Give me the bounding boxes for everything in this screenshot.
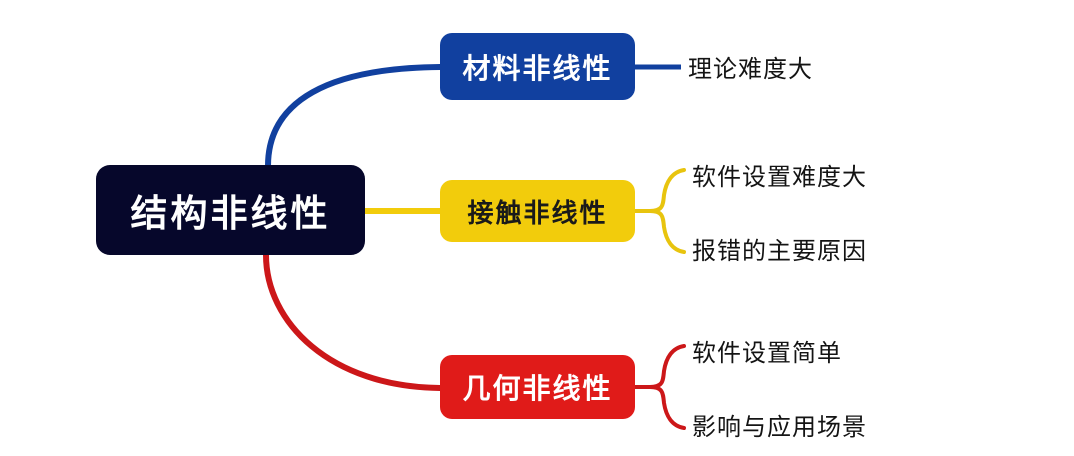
leaf-material-theory-difficulty: 理论难度大	[688, 49, 813, 84]
connector-root-to-material	[268, 67, 440, 166]
connector-root-to-geometric	[266, 255, 440, 388]
leaf-contact-main-error-cause: 报错的主要原因	[692, 231, 867, 266]
branch-node-contact-nonlinearity[interactable]: 接触非线性	[440, 180, 635, 242]
root-node-structural-nonlinearity[interactable]: 结构非线性	[96, 165, 365, 255]
leaf-geometric-impact-and-scenarios: 影响与应用场景	[692, 407, 867, 442]
mindmap-canvas: 结构非线性 材料非线性 接触非线性 几何非线性 理论难度大 软件设置难度大 报错…	[0, 0, 1074, 456]
connector-geometric-to-leaf-2	[650, 387, 684, 428]
leaf-geometric-software-setup-simple: 软件设置简单	[692, 333, 842, 368]
branch-node-material-nonlinearity[interactable]: 材料非线性	[440, 33, 635, 100]
connector-geometric-to-leaf-1	[650, 346, 684, 387]
leaf-contact-software-setup-difficulty: 软件设置难度大	[692, 157, 867, 192]
connector-contact-to-leaf-2	[650, 211, 684, 252]
branch-node-geometric-nonlinearity[interactable]: 几何非线性	[440, 355, 635, 419]
connector-contact-to-leaf-1	[650, 170, 684, 211]
